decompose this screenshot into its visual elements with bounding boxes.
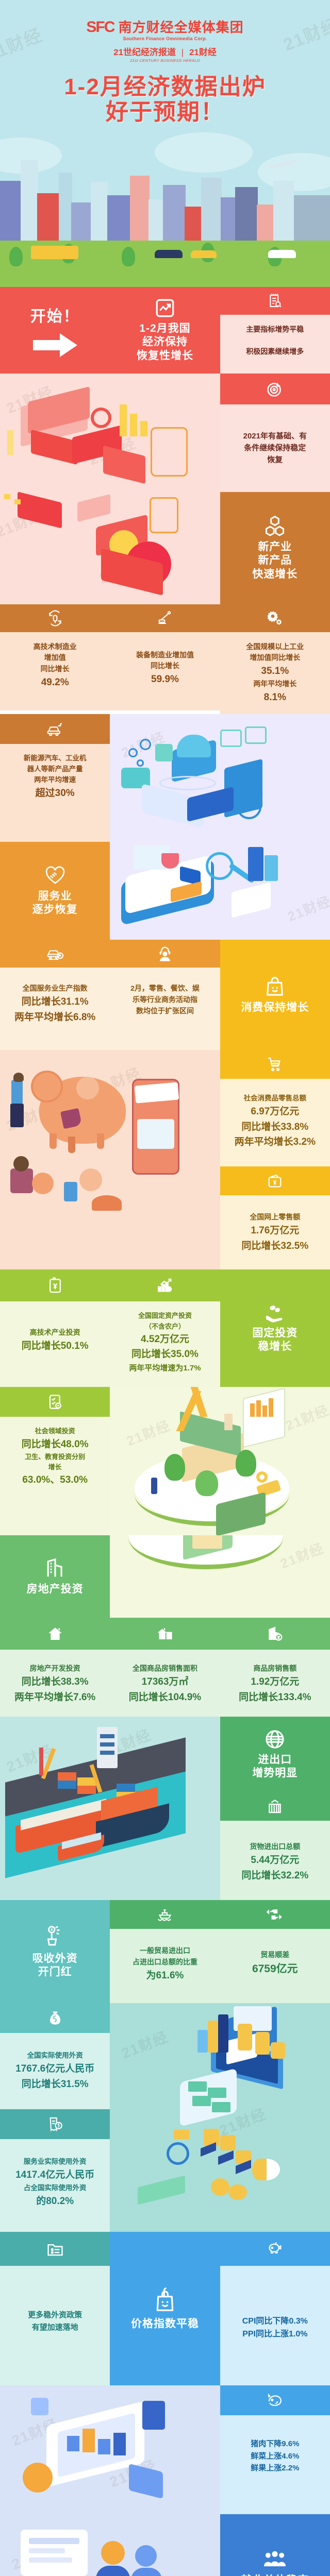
hero-title: 1-2月经济数据出炉 好于预期！: [0, 74, 330, 125]
prices-stat-0: CPI同比下降0.3% PPI同比上涨1.0%: [220, 2232, 330, 2385]
line-value: 同比增长32.2%: [224, 1868, 326, 1883]
line: 高技术制造业: [4, 641, 106, 653]
line-value: CPI同比下降0.3%: [224, 2315, 326, 2328]
line-value: 同比增长104.9%: [114, 1690, 216, 1705]
line: 增加值同比增长: [224, 652, 326, 664]
industry-stat-1: 装备制造业增加值 同比增长 59.9%: [110, 604, 220, 715]
prices-title-cell: 价格指数平稳: [110, 2232, 220, 2385]
handshake-heart-icon: [44, 865, 67, 886]
city-illustration: [0, 132, 330, 287]
ev-car-icon: [0, 714, 110, 744]
fixed-stat-1: 全国固定资产投资 （不含农户） 4.52万亿元 同比增长35.0% 两年平均增速…: [110, 1269, 220, 1387]
realestate-stat-0-text: 房地产开发投资 同比增长38.3% 两年平均增长7.6%: [0, 1650, 110, 1717]
employment-title: 就业总体稳定: [241, 2574, 309, 2576]
line: 器人等新产品产量: [4, 764, 106, 775]
industry-title: 新产业 新产品 快速增长: [252, 540, 298, 581]
start-cell: 开始！: [0, 287, 110, 374]
wallet-yuan-icon: [220, 1166, 330, 1195]
shopping-bag-smile-icon: [264, 975, 286, 998]
section-realestate-head: 房地产投资 21财经: [0, 1535, 330, 1618]
fdi-stat-2-text: 更多稳外资政策 有望加速落地: [0, 2266, 110, 2385]
people-group-icon: [263, 2549, 287, 2570]
line-value: 猪肉下降9.6%: [224, 2438, 326, 2450]
fixed-title-cell: 固定投资 稳增长: [220, 1269, 330, 1387]
line-value: 同比增长33.8%: [224, 1120, 326, 1134]
line: 更多稳外资政策: [4, 2309, 106, 2321]
section-consumption: 21财经 21财经: [0, 1050, 330, 1269]
line: 占进出口总额的比重: [114, 1957, 216, 1968]
line-value: 4.52万亿元: [114, 1332, 216, 1347]
port-illustration: 21财经 21财经: [0, 1717, 220, 1900]
overall-card-1-wrap: 2021年有基础、有 条件继续保持稳定 恢复: [220, 374, 330, 492]
line: 卫生、教育投资分别: [4, 1452, 106, 1462]
section-fdi: 全国实际使用外资 1767.6亿元人民币 同比增长31.5% 服务业实际使用外资…: [0, 2003, 330, 2232]
line: 增加值: [4, 652, 106, 664]
grocery-bag-icon: [153, 2286, 177, 2312]
industry-stat-2-text: 全国规模以上工业 增加值同比增长 35.1% 两年平均增长 8.1%: [220, 632, 330, 715]
container-icon: [220, 1792, 330, 1821]
line-value: 6759亿元: [224, 1961, 326, 1978]
trade-stat-2: 贸易顺差 6759亿元: [220, 1900, 330, 2003]
realestate-illustration-b: 21财经: [110, 1535, 330, 1618]
robot-arm-icon: [110, 604, 220, 632]
gear-icon: [220, 604, 330, 632]
section-fixed-b: 社会领域投资 同比增长48.0% 卫生、教育投资分别 增长 63.0%、53.0…: [0, 1387, 330, 1535]
hero-title-line1: 1-2月经济数据出炉: [0, 74, 330, 99]
line-value: 59.9%: [114, 672, 216, 687]
line: 服务业实际使用外资: [4, 2157, 106, 2167]
consumption-stat-0-text: 社会消费品零售总额 6.97万亿元 同比增长33.8% 两年平均增长3.2%: [220, 1079, 330, 1166]
line: 同比增长: [4, 664, 106, 675]
brand-pub-en: 21st CENTURY BUSINESS HERALD: [0, 58, 330, 63]
start-label: 开始！: [30, 303, 80, 326]
realestate-title: 房地产投资: [27, 1583, 84, 1596]
target-icon: [220, 374, 330, 404]
line: 高技术产业投资: [4, 1327, 106, 1338]
fixed-title: 固定投资 稳增长: [252, 1327, 298, 1354]
section-industry-stats: 高技术制造业 增加值 同比增长 49.2% 装备制造业增加值 同比增长 59.9…: [0, 604, 330, 715]
line: 有望加速落地: [4, 2321, 106, 2333]
brand-pub-cn: 21世纪经济报道: [113, 47, 176, 57]
line-value: 35.1%: [224, 664, 326, 679]
line-value: 同比增长32.5%: [224, 1239, 326, 1253]
prices-stat-1-text: 猪肉下降9.6% 鲜菜上涨4.6% 鲜果上涨2.2%: [220, 2415, 330, 2514]
overall-card-0-text: 主要指标增势平稳 积极因素继续增多: [220, 315, 330, 374]
consumption-title-cell: 消费保持增长: [220, 940, 330, 1050]
bus-shape: [31, 246, 78, 259]
report-search-icon: [220, 287, 330, 315]
ship-icon: [110, 1900, 220, 1929]
section-overall-b: 21财经 21财经 2021年有基础、有 条件继续保持稳定 恢复: [0, 374, 330, 492]
line-value: 鲜菜上涨4.6%: [224, 2450, 326, 2462]
section-overall: 开始！ 1-2月我国 经济保持 恢复性增长 主要指标增势平稳: [0, 287, 330, 374]
services-stat-1: 2月，零售、餐饮、娱 乐等行业商务活动指 数均位于扩张区间: [110, 940, 220, 1050]
fixed-stat-2: 社会领域投资 同比增长48.0% 卫生、教育投资分别 增长 63.0%、53.0…: [0, 1387, 110, 1535]
realestate-stat-2: 商品房销售额 1.92万亿元 同比增长133.4%: [220, 1618, 330, 1717]
line: 货物进出口总额: [224, 1841, 326, 1853]
line: 增长: [4, 1462, 106, 1472]
line-value: 两年平均增长3.2%: [224, 1134, 326, 1149]
arrow-right-icon: [33, 333, 77, 357]
line: 社会领域投资: [4, 1426, 106, 1436]
brand-name-en: Southern Finance Omnimedia Corp.: [0, 36, 330, 41]
section-industry-b: 新能源汽车、工业机 器人等新产品产量 两年平均增速 超过30% 21财经 21财…: [0, 714, 330, 842]
line-value: 同比增长31.5%: [4, 2077, 106, 2092]
industry-stat-1-text: 装备制造业增加值 同比增长 59.9%: [110, 632, 220, 710]
industry-title-cell: 新产业 新产品 快速增长: [220, 492, 330, 604]
building-yuan-icon: [220, 1618, 330, 1650]
line: 占全国实际使用外资: [4, 2183, 106, 2194]
line-value: 1.76万亿元: [224, 1223, 326, 1238]
section-trade-head: 21财经 21财经: [0, 1717, 330, 1900]
chart-trend-icon: [154, 297, 176, 319]
overall-title: 1-2月我国 经济保持 恢复性增长: [137, 322, 193, 363]
services-stat-0-text: 全国服务业生产指数 同比增长31.1% 两年平均增长6.8%: [0, 968, 110, 1050]
cubes-icon: [263, 515, 286, 537]
consumption-stat-1-text: 全国网上零售额 1.76万亿元 同比增长32.5%: [220, 1195, 330, 1269]
line: 新能源汽车、工业机: [4, 753, 106, 764]
section-prices-head: 更多稳外资政策 有望加速落地 价格指数平稳: [0, 2232, 330, 2385]
line-value: 超过30%: [4, 786, 106, 801]
line-value: 同比增长38.3%: [4, 1674, 106, 1689]
employment-illustration: 21财经: [0, 2514, 220, 2576]
line-value: 同比增长133.4%: [224, 1690, 326, 1705]
consumption-illustration: 21财经 21财经: [0, 1050, 220, 1269]
line-value: 两年平均增长7.6%: [4, 1690, 106, 1705]
realestate-title-cell: 房地产投资: [0, 1535, 110, 1618]
trade-title: 进出口 增势明显: [252, 1753, 298, 1781]
hero-header: 21财经 21财经 SFC 南方财经全媒体集团 Southern Finance…: [0, 0, 330, 287]
overall-title-cell: 1-2月我国 经济保持 恢复性增长: [110, 287, 220, 374]
line: 商品房销售额: [224, 1663, 326, 1674]
line-value: 8.1%: [224, 690, 326, 705]
industry-stat-2: 全国规模以上工业 增加值同比增长 35.1% 两年平均增长 8.1%: [220, 604, 330, 715]
exchange-arrows-icon: [220, 1900, 330, 1929]
industry-stat-0-text: 高技术制造业 增加值 同比增长 49.2%: [0, 632, 110, 710]
employment-title-cell: 就业总体稳定: [220, 2514, 330, 2576]
trade-title-cell: 进出口 增势明显: [220, 1717, 330, 1792]
line: 全国实际使用外资: [4, 2050, 106, 2061]
pork-icon: [220, 2385, 330, 2415]
piggy-icon: [220, 2232, 330, 2266]
realestate-stat-1-text: 全国商品房销售面积 17363万㎡ 同比增长104.9%: [110, 1650, 220, 1717]
line-value: 17363万㎡: [114, 1674, 216, 1689]
brand-sub-cn: 21财经: [189, 47, 217, 57]
overall-card-1-text: 2021年有基础、有 条件继续保持稳定 恢复: [220, 404, 330, 492]
car-shape: [155, 250, 183, 258]
line: 全国商品房销售面积: [114, 1663, 216, 1674]
consumption-stats: 社会消费品零售总额 6.97万亿元 同比增长33.8% 两年平均增长3.2% 全…: [220, 1050, 330, 1269]
fixed-stat-2-text: 社会领域投资 同比增长48.0% 卫生、教育投资分别 增长 63.0%、53.0…: [0, 1417, 110, 1535]
section-realestate-stats: 房地产开发投资 同比增长38.3% 两年平均增长7.6% 全国商品房销售面积 1…: [0, 1618, 330, 1717]
cart-icon: [220, 1050, 330, 1079]
line: 同比增长: [114, 660, 216, 672]
fixed-stat-0: 高技术产业投资 同比增长50.1%: [0, 1269, 110, 1387]
car-clock-icon: [0, 940, 110, 968]
realestate-stat-2-text: 商品房销售额 1.92万亿元 同比增长133.4%: [220, 1650, 330, 1717]
clipboard-yuan-icon: [0, 1269, 110, 1301]
line: 全国服务业生产指数: [4, 983, 106, 994]
services-title-cell: 服务业 逐步恢复: [0, 842, 110, 940]
infographic-page: 21财经 21财经 SFC 南方财经全媒体集团 Southern Finance…: [0, 0, 330, 2576]
line-value: 63.0%、53.0%: [4, 1472, 106, 1487]
fdi-illustration: 21财经 21财经: [110, 2003, 330, 2232]
brand-logo: SFC 南方财经全媒体集团 Southern Finance Omnimedia…: [0, 20, 330, 63]
money-plant-icon: [44, 1924, 67, 1948]
trade-stat-1: 一般贸易进出口 占进出口总额的比重 为61.6%: [110, 1900, 220, 2003]
trade-stat-1-text: 一般贸易进出口 占进出口总额的比重 为61.6%: [110, 1929, 220, 2003]
line-value: 两年平均增速为1.7%: [114, 1362, 216, 1374]
line: 装备制造业增加值: [114, 650, 216, 661]
headset-person-icon: [110, 940, 220, 968]
prices-title: 价格指数平稳: [131, 2317, 199, 2331]
line: 贸易顺差: [224, 1950, 326, 1961]
line-value: 6.97万亿元: [224, 1104, 326, 1119]
line-value: 的80.2%: [4, 2194, 106, 2209]
trade-stat-0-text: 货物进出口总额 5.44万亿元 同比增长32.2%: [220, 1821, 330, 1900]
brand-divider: |: [181, 47, 184, 57]
line: 乐等行业商务活动指: [114, 994, 216, 1006]
fdi-stat-1-text: 服务业实际使用外资 1417.4亿元人民币 占全国实际使用外资 的80.2%: [0, 2139, 110, 2232]
section-trade-stats: 吸收外资 开门红 一般贸易进出口 占进出口总额的比重 为61.6%: [0, 1900, 330, 2003]
money-bag-icon: [0, 2003, 110, 2033]
line-value: 同比增长35.0%: [114, 1347, 216, 1362]
line: 全国网上零售额: [224, 1212, 326, 1223]
overall-cards: 主要指标增势平稳 积极因素继续增多: [220, 287, 330, 374]
home-icon: [0, 1618, 110, 1650]
line-value: PPI同比上涨1.0%: [224, 2328, 326, 2341]
fixed-stat-1-text: 全国固定资产投资 （不含农户） 4.52万亿元 同比增长35.0% 两年平均增速…: [110, 1301, 220, 1387]
taxi-shape: [191, 250, 217, 258]
trade-title-wrap: 进出口 增势明显 货物进出口总额 5.44万亿元 同比增长32.2%: [220, 1717, 330, 1900]
airplane-icon: [269, 162, 300, 171]
building-icon: [45, 1557, 65, 1579]
line-value: 49.2%: [4, 675, 106, 690]
line: 社会消费品零售总额: [224, 1093, 326, 1104]
section-prices-b: 21财经 21财经 猪肉下降9.6%: [0, 2385, 330, 2514]
line: 全国固定资产投资: [114, 1311, 216, 1321]
industry-stat-0: 高技术制造业 增加值 同比增长 49.2%: [0, 604, 110, 715]
line: 两年平均增长: [224, 679, 326, 690]
industry-stat-3: 新能源汽车、工业机 器人等新产品产量 两年平均增速 超过30%: [0, 714, 110, 842]
globe-icon: [264, 1728, 286, 1750]
factory-recycle-icon: [0, 604, 110, 632]
prices-stat-0-text: CPI同比下降0.3% PPI同比上涨1.0%: [220, 2266, 330, 2385]
section-fixed-head: 高技术产业投资 同比增长50.1% 全国固定资产投资 （不含农户） 4.52万亿…: [0, 1269, 330, 1387]
section-industry-head: 21财经 21财经 新产业 新产品 快速增长: [0, 492, 330, 604]
services-stat-0: 全国服务业生产指数 同比增长31.1% 两年平均增长6.8%: [0, 940, 110, 1050]
checklist-gear-icon: [0, 1387, 110, 1417]
services-illustration: 21财经 21财经: [110, 842, 330, 940]
section-employment-head: 21财经 就业总体稳定: [0, 2514, 330, 2576]
line-value: 5.44万亿元: [224, 1853, 326, 1868]
industry-illustration: 21财经 21财经: [0, 492, 220, 604]
car2-shape: [268, 250, 296, 258]
industry-stat-3-text: 新能源汽车、工业机 器人等新产品产量 两年平均增速 超过30%: [0, 744, 110, 842]
section-services-head: 服务业 逐步恢复 21财经 21财经: [0, 842, 330, 940]
fdi-title-cell: 吸收外资 开门红: [0, 1900, 110, 2003]
trade-stat-2-text: 贸易顺差 6759亿元: [220, 1929, 330, 2003]
line: 全国规模以上工业: [224, 641, 326, 653]
hand-sprout-icon: [263, 1303, 286, 1323]
realestate-stat-0: 房地产开发投资 同比增长38.3% 两年平均增长7.6%: [0, 1618, 110, 1717]
overall-illustration: 21财经 21财经: [0, 374, 220, 492]
realestate-stat-1: 全国商品房销售面积 17363万㎡ 同比增长104.9%: [110, 1618, 220, 1717]
line: 两年平均增速: [4, 775, 106, 786]
folder-list-icon: [0, 2232, 110, 2266]
realestate-illustration: 21财经 21财经: [110, 1387, 330, 1535]
line-value: 同比增长50.1%: [4, 1338, 106, 1353]
hero-title-line2: 好于预期！: [0, 99, 330, 125]
brand-sfc: SFC: [86, 19, 114, 36]
line: 数均位于扩张区间: [114, 1006, 216, 1017]
invoice-dollar-icon: [0, 2109, 110, 2139]
services-stat-1-text: 2月，零售、餐饮、娱 乐等行业商务活动指 数均位于扩张区间: [110, 968, 220, 1050]
services-title: 服务业 逐步恢复: [32, 890, 78, 917]
fdi-stat-2: 更多稳外资政策 有望加速落地: [0, 2232, 110, 2385]
line: 一般贸易进出口: [114, 1945, 216, 1957]
houses-icon: [110, 1618, 220, 1650]
fdi-title: 吸收外资 开门红: [32, 1952, 78, 1979]
fdi-stat-0-text: 全国实际使用外资 1767.6亿元人民币 同比增长31.5%: [0, 2033, 110, 2109]
consumption-title: 消费保持增长: [241, 1001, 309, 1014]
bar-arrow-icon: [110, 1269, 220, 1301]
prices-illustration: 21财经 21财经: [0, 2385, 220, 2514]
section-services-stats: 全国服务业生产指数 同比增长31.1% 两年平均增长6.8% 2月，零售、餐饮、…: [0, 940, 330, 1050]
brand-name-cn: 南方财经全媒体集团: [119, 20, 244, 35]
fdi-stats-col: 全国实际使用外资 1767.6亿元人民币 同比增长31.5% 服务业实际使用外资…: [0, 2003, 110, 2232]
line-value: 1.92万亿元: [224, 1674, 326, 1689]
ai-illustration: 21财经 21财经: [110, 714, 330, 842]
line-value: 鲜果上涨2.2%: [224, 2462, 326, 2474]
line: 2月，零售、餐饮、娱: [114, 983, 216, 994]
line: （不含农户）: [114, 1321, 216, 1332]
prices-stat-1: 猪肉下降9.6% 鲜菜上涨4.6% 鲜果上涨2.2%: [220, 2385, 330, 2514]
line-value: 同比增长31.1%: [4, 994, 106, 1009]
line: 房地产开发投资: [4, 1663, 106, 1674]
line-value: 为61.6%: [114, 1968, 216, 1983]
line-value: 1767.6亿元人民币: [4, 2061, 106, 2076]
line-value: 同比增长48.0%: [4, 1437, 106, 1452]
line-value: 两年平均增长6.8%: [4, 1010, 106, 1025]
line-value: 1417.4亿元人民币: [4, 2167, 106, 2182]
fixed-stat-0-text: 高技术产业投资 同比增长50.1%: [0, 1301, 110, 1387]
